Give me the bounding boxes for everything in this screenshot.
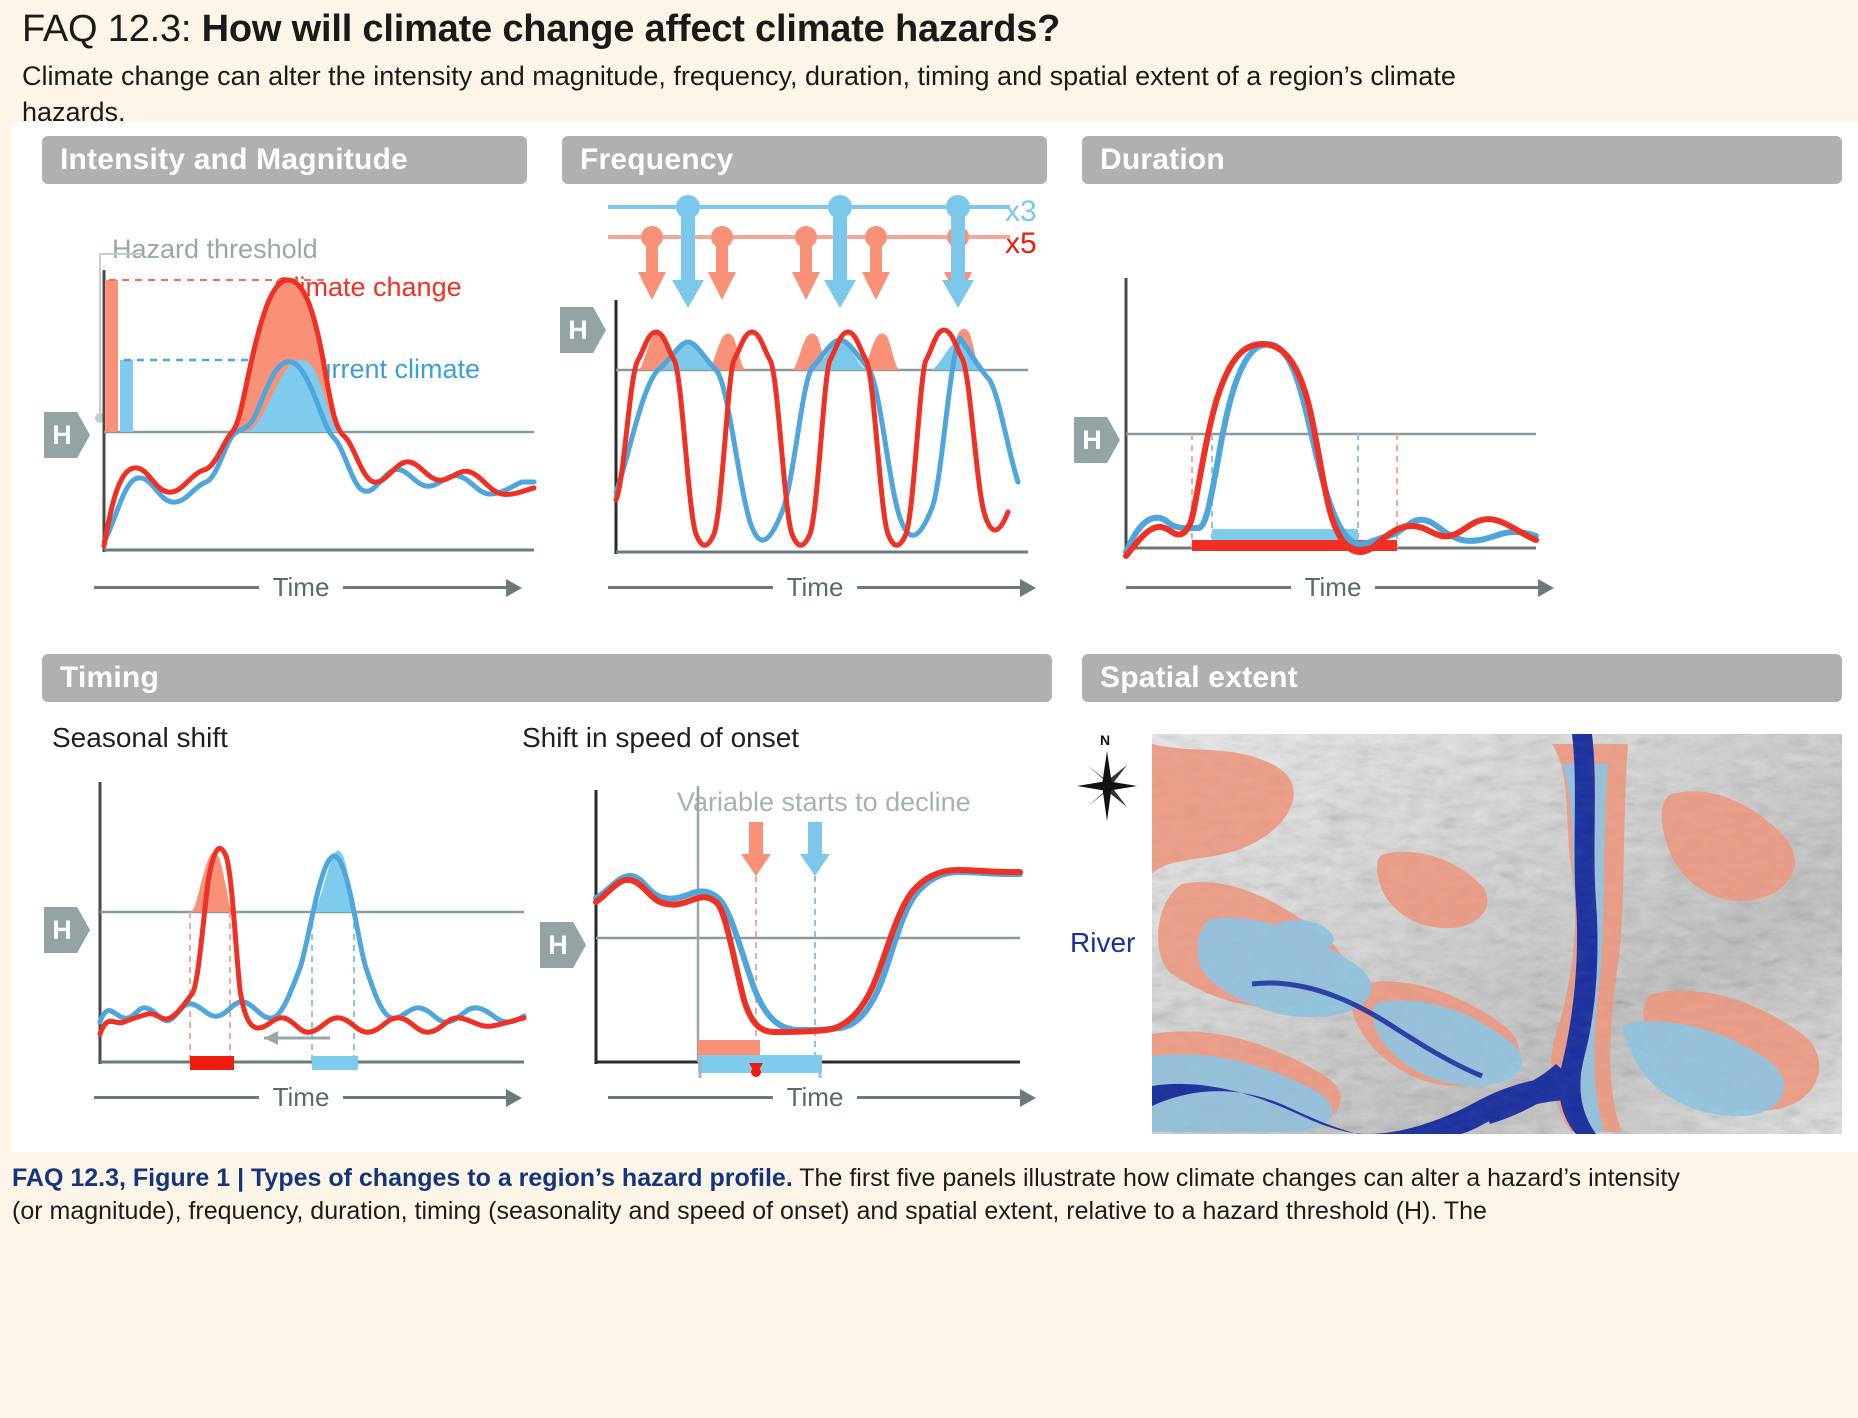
faq-subtitle: Climate change can alter the intensity a…: [22, 58, 1472, 130]
panel-band-timing: Timing: [42, 654, 1052, 702]
caption-body-line1: The first five panels illustrate how cli…: [793, 1164, 1680, 1192]
compass-rose: N: [1074, 727, 1144, 842]
axis-line-left: [608, 586, 773, 589]
time-axis-label: Time: [259, 572, 344, 603]
arrow-right-icon: [506, 1089, 522, 1107]
arrow-right-icon: [506, 579, 522, 597]
axis-line-right: [857, 1096, 1022, 1099]
frequency-plot: [598, 182, 1038, 572]
time-axis-label: Time: [773, 572, 858, 603]
axis-line-left: [608, 1096, 773, 1099]
panel-band-timing-label: Timing: [60, 661, 159, 695]
caption-lead: FAQ 12.3, Figure 1 | Types of changes to…: [12, 1164, 793, 1192]
arrow-right-icon: [1538, 579, 1554, 597]
svg-text:N: N: [1100, 732, 1110, 748]
timing-subtitle-onset: Shift in speed of onset: [522, 722, 799, 754]
axis-line-right: [343, 1096, 508, 1099]
duration-plot: [1112, 252, 1542, 562]
timing-subtitle-seasonal: Seasonal shift: [52, 722, 228, 754]
intensity-plot: [82, 242, 542, 562]
axis-line-left: [94, 1096, 259, 1099]
faq-question: How will climate change affect climate h…: [202, 8, 1061, 50]
time-axis-intensity: Time: [94, 572, 522, 603]
panel-band-frequency-label: Frequency: [580, 143, 734, 177]
panel-band-frequency: Frequency: [562, 136, 1047, 184]
time-axis-seasonal: Time: [94, 1082, 522, 1113]
axis-line-right: [343, 586, 508, 589]
panel-band-duration: Duration: [1082, 136, 1842, 184]
arrow-right-icon: [1020, 1089, 1036, 1107]
panel-band-intensity: Intensity and Magnitude: [42, 136, 527, 184]
time-axis-label: Time: [1291, 572, 1376, 603]
panel-band-duration-label: Duration: [1100, 143, 1225, 177]
time-axis-duration: Time: [1126, 572, 1554, 603]
time-axis-frequency: Time: [608, 572, 1036, 603]
page-left-margin: [0, 0, 12, 1418]
header: FAQ 12.3: How will climate change affect…: [22, 0, 1842, 130]
faq-number: FAQ 12.3:: [22, 8, 191, 50]
axis-line-left: [94, 586, 259, 589]
panel-band-spatial-label: Spatial extent: [1100, 661, 1298, 695]
page-title: FAQ 12.3: How will climate change affect…: [22, 0, 1842, 52]
panel-band-intensity-label: Intensity and Magnitude: [60, 143, 408, 177]
time-axis-label: Time: [773, 1082, 858, 1113]
seasonal-shift-plot: [82, 772, 532, 1092]
panel-band-spatial: Spatial extent: [1082, 654, 1842, 702]
figure-caption: FAQ 12.3, Figure 1 | Types of changes to…: [12, 1162, 1858, 1228]
speed-of-onset-plot: [578, 772, 1028, 1092]
spatial-extent-map: [1152, 734, 1842, 1139]
axis-line-right: [857, 586, 1022, 589]
time-axis-onset: Time: [608, 1082, 1036, 1113]
axis-line-left: [1126, 586, 1291, 589]
river-label: River: [1070, 927, 1135, 959]
arrow-right-icon: [1020, 579, 1036, 597]
figure-area: Intensity and Magnitude Hazard threshold…: [12, 122, 1858, 1152]
time-axis-label: Time: [259, 1082, 344, 1113]
axis-line-right: [1375, 586, 1540, 589]
caption-body-line2: (or magnitude), frequency, duration, tim…: [12, 1195, 1858, 1228]
